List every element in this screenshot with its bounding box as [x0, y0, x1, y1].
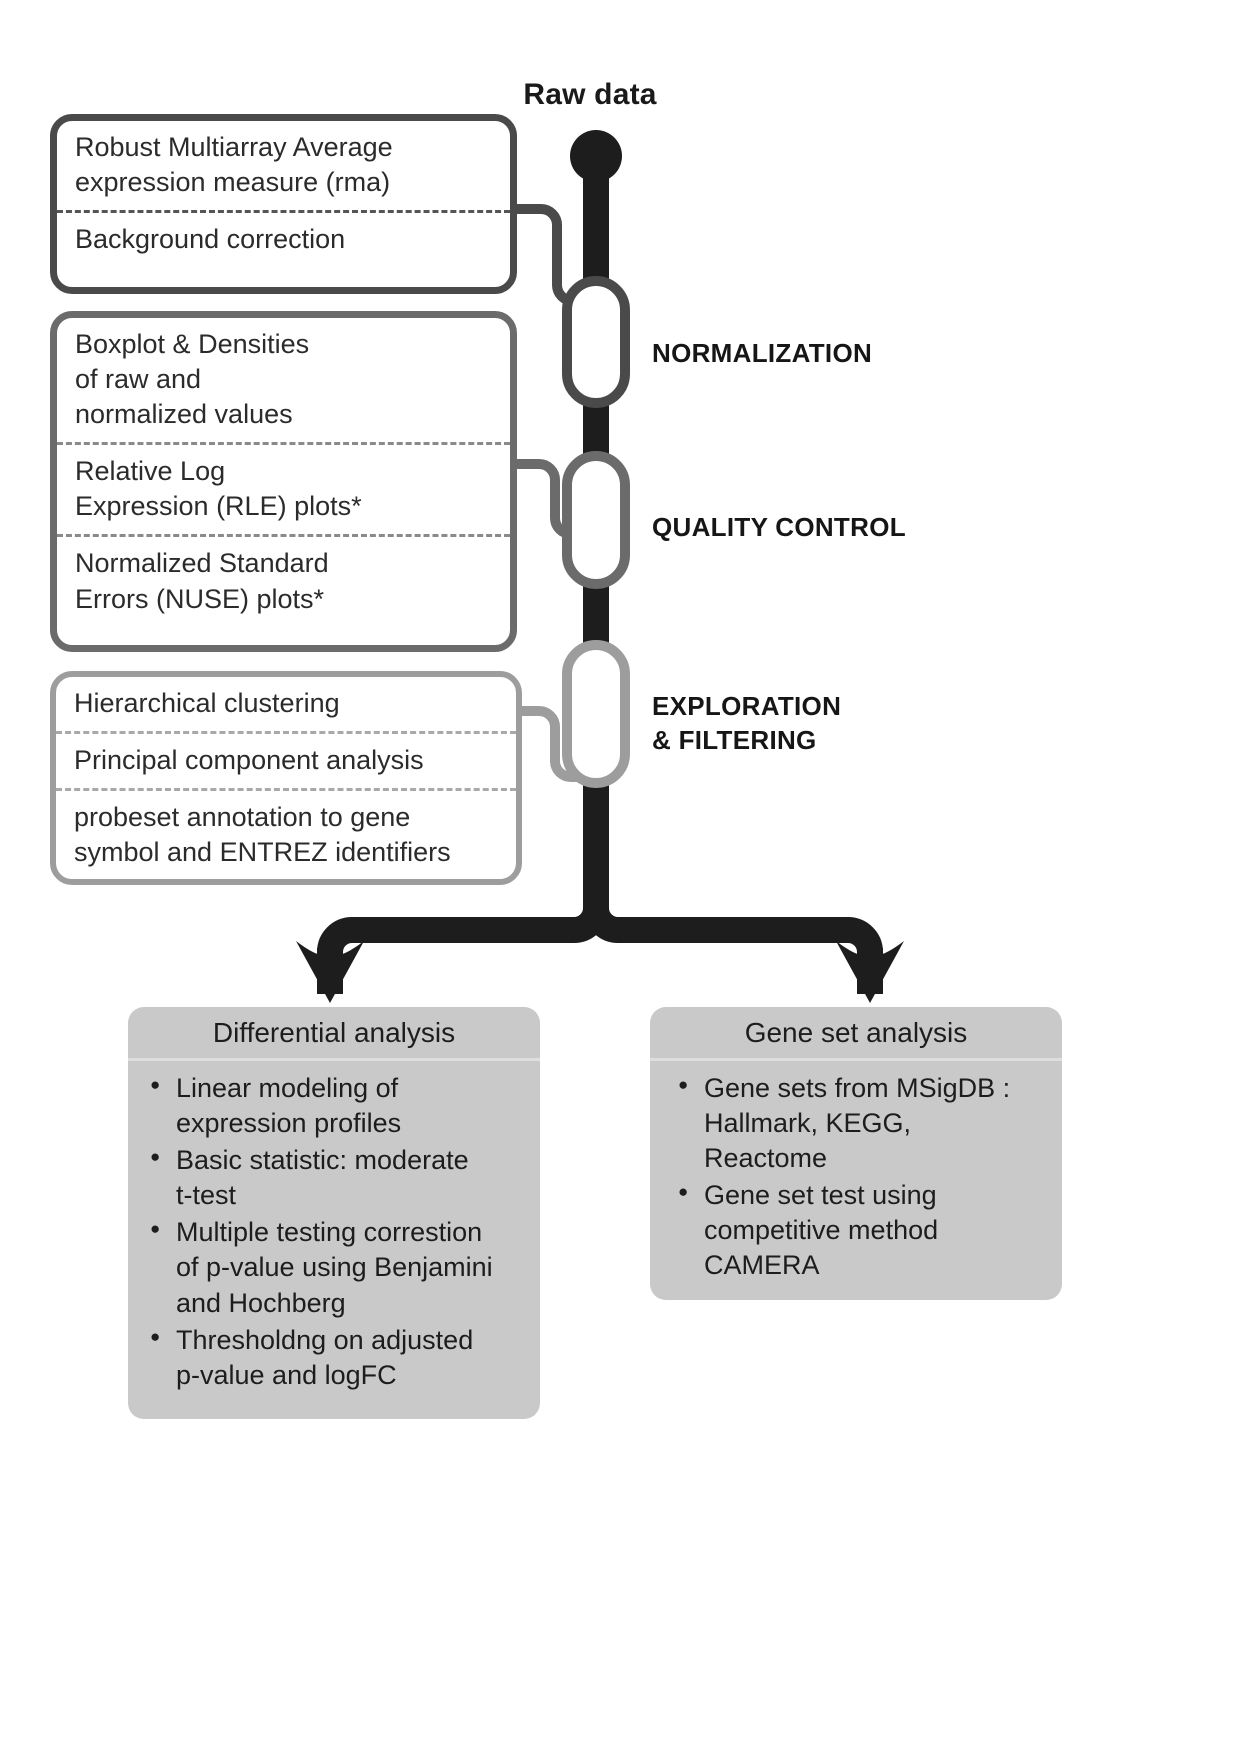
arrow-shaft-geneset: [857, 948, 883, 994]
capsule-normalization: [567, 281, 625, 403]
capsule-exploration: [567, 645, 625, 783]
workflow-diagram: Raw data Robust Multiarray Average expre…: [0, 0, 1240, 1753]
stage-label-quality-control: QUALITY CONTROL: [652, 511, 906, 545]
stage-box-normalization-items: Robust Multiarray Average expression mea…: [57, 121, 510, 267]
arrowhead-geneset: [836, 941, 904, 1003]
stage-item-nuse-plots: Normalized Standard Errors (NUSE) plots*: [57, 534, 510, 626]
fork-right-branch: [596, 890, 848, 930]
stage-box-exploration-filtering: Hierarchical clustering Principal compon…: [50, 671, 522, 885]
raw-data-title: Raw data: [440, 78, 740, 112]
raw-data-node: [570, 130, 622, 182]
list-item: Gene sets from MSigDB : Hallmark, KEGG, …: [678, 1071, 1048, 1176]
connector-normalization: [517, 209, 583, 301]
spine-trunk: [583, 150, 609, 910]
panel-differential-bullet-list: Linear modeling of expression profiles B…: [128, 1061, 540, 1411]
arrow-shaft-differential: [317, 948, 343, 994]
fork-left-branch: [352, 890, 596, 930]
stage-item-hierarchical-clustering: Hierarchical clustering: [56, 677, 516, 731]
stage-box-quality-control-items: Boxplot & Densities of raw and normalize…: [57, 318, 510, 627]
list-item: Thresholdng on adjusted p-value and logF…: [150, 1323, 526, 1393]
stage-item-background-correction: Background correction: [57, 210, 510, 267]
stage-item-probeset-annotation: probeset annotation to gene symbol and E…: [56, 788, 516, 880]
connector-exploration: [517, 711, 581, 777]
stage-box-normalization: Robust Multiarray Average expression mea…: [50, 114, 517, 294]
list-item: Basic statistic: moderate t-test: [150, 1143, 526, 1213]
stage-label-exploration-filtering: EXPLORATION & FILTERING: [652, 690, 841, 758]
list-item: Linear modeling of expression profiles: [150, 1071, 526, 1141]
stage-item-rma: Robust Multiarray Average expression mea…: [57, 121, 510, 210]
stage-box-exploration-items: Hierarchical clustering Principal compon…: [56, 677, 516, 880]
stage-label-normalization: NORMALIZATION: [652, 337, 872, 371]
panel-differential-title: Differential analysis: [128, 1007, 540, 1061]
panel-differential-analysis: Differential analysis Linear modeling of…: [128, 1007, 540, 1419]
stage-item-boxplot-densities: Boxplot & Densities of raw and normalize…: [57, 318, 510, 442]
capsule-quality: [567, 456, 625, 584]
stage-box-quality-control: Boxplot & Densities of raw and normalize…: [50, 311, 517, 652]
fork-right-stub: [848, 930, 870, 962]
stage-item-rle-plots: Relative Log Expression (RLE) plots*: [57, 442, 510, 534]
list-item: Multiple testing correstion of p-value u…: [150, 1215, 526, 1320]
fork-left-stub: [330, 930, 352, 962]
arrowhead-differential: [296, 941, 364, 1003]
panel-geneset-bullet-list: Gene sets from MSigDB : Hallmark, KEGG, …: [650, 1061, 1062, 1302]
list-item: Gene set test using competitive method C…: [678, 1178, 1048, 1283]
stage-item-pca: Principal component analysis: [56, 731, 516, 788]
panel-geneset-title: Gene set analysis: [650, 1007, 1062, 1061]
panel-gene-set-analysis: Gene set analysis Gene sets from MSigDB …: [650, 1007, 1062, 1300]
connector-quality: [517, 464, 581, 534]
